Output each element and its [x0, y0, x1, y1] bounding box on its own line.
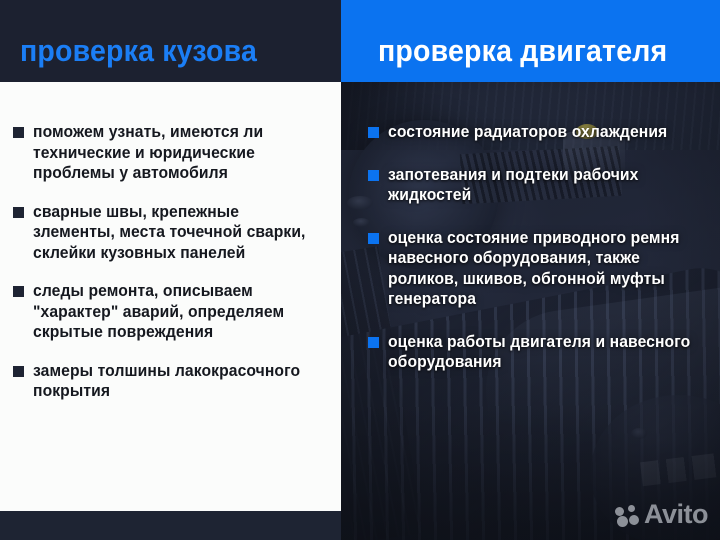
square-bullet-icon — [368, 127, 379, 138]
list-item-label: состояние радиаторов охлаждения — [388, 122, 697, 143]
list-item: сварные швы, крепежные злементы, места т… — [13, 202, 329, 264]
list-item-label: сварные швы, крепежные злементы, места т… — [33, 202, 314, 264]
right-header-title: проверка двигателя — [378, 35, 667, 66]
list-item: запотевания и подтеки рабочих жидкостей — [368, 165, 713, 206]
list-item: оценка работы двигателя и навесного обор… — [368, 332, 713, 373]
left-feature-list: поможем узнать, имеются ли технические и… — [13, 122, 329, 420]
square-bullet-icon — [13, 207, 24, 218]
right-feature-list: состояние радиаторов охлаждения запотева… — [368, 122, 713, 395]
square-bullet-icon — [13, 286, 24, 297]
list-item: замеры толшины лакокрасочного покрытия — [13, 361, 329, 402]
left-panel-footer-bar — [0, 511, 341, 540]
list-item: состояние радиаторов охлаждения — [368, 122, 713, 143]
list-item-label: поможем узнать, имеются ли технические и… — [33, 122, 314, 184]
square-bullet-icon — [368, 233, 379, 244]
square-bullet-icon — [13, 127, 24, 138]
avito-logo-icon — [615, 504, 641, 526]
list-item-label: запотевания и подтеки рабочих жидкостей — [388, 165, 697, 206]
list-item: следы ремонта, описываем "характер" авар… — [13, 281, 329, 343]
square-bullet-icon — [13, 366, 24, 377]
list-item: поможем узнать, имеются ли технические и… — [13, 122, 329, 184]
list-item-label: следы ремонта, описываем "характер" авар… — [33, 281, 314, 343]
list-item-label: оценка работы двигателя и навесного обор… — [388, 332, 697, 373]
avito-watermark: Avito — [615, 501, 708, 528]
right-header-bar: проверка двигателя — [341, 0, 720, 82]
square-bullet-icon — [368, 170, 379, 181]
list-item-label: оценка состояние приводного ремня навесн… — [388, 228, 697, 310]
list-item-label: замеры толшины лакокрасочного покрытия — [33, 361, 314, 402]
avito-watermark-text: Avito — [644, 501, 708, 528]
left-header-title: проверка кузова — [20, 35, 257, 66]
list-item: оценка состояние приводного ремня навесн… — [368, 228, 713, 310]
left-header-bar: проверка кузова — [0, 0, 341, 82]
square-bullet-icon — [368, 337, 379, 348]
poster-root: проверка кузова проверка двигателя помож… — [0, 0, 720, 540]
